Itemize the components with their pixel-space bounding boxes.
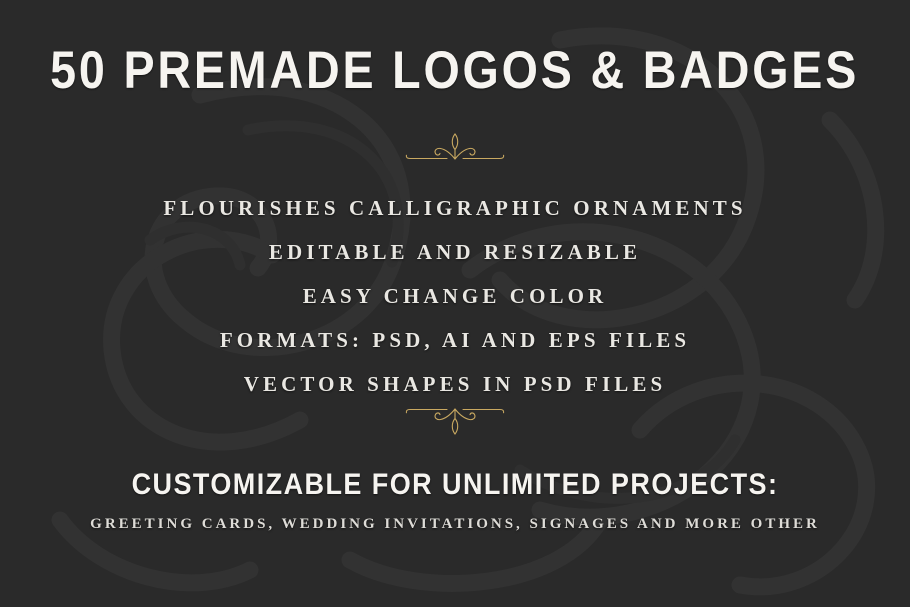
feature-line: EASY CHANGE COLOR	[0, 274, 910, 318]
feature-line: FLOURISHES CALLIGRAPHIC ORNAMENTS	[0, 186, 910, 230]
ornament-divider-up-icon	[393, 128, 517, 168]
footer-headline: CUSTOMIZABLE FOR UNLIMITED PROJECTS:	[46, 468, 865, 502]
page-title: 50 PREMADE LOGOS & BADGES	[51, 44, 860, 97]
banner-title-row: 50 PREMADE LOGOS & BADGES	[0, 44, 910, 97]
promo-banner: 50 PREMADE LOGOS & BADGES	[0, 0, 910, 607]
ornament-divider-down-icon	[393, 400, 517, 440]
feature-line: EDITABLE AND RESIZABLE	[0, 230, 910, 274]
feature-line: FORMATS: PSD, AI AND EPS FILES	[0, 318, 910, 362]
footer-block: CUSTOMIZABLE FOR UNLIMITED PROJECTS: GRE…	[0, 468, 910, 534]
footer-subline: GREETING CARDS, WEDDING INVITATIONS, SIG…	[0, 514, 910, 534]
feature-list: FLOURISHES CALLIGRAPHIC ORNAMENTS EDITAB…	[0, 186, 910, 406]
